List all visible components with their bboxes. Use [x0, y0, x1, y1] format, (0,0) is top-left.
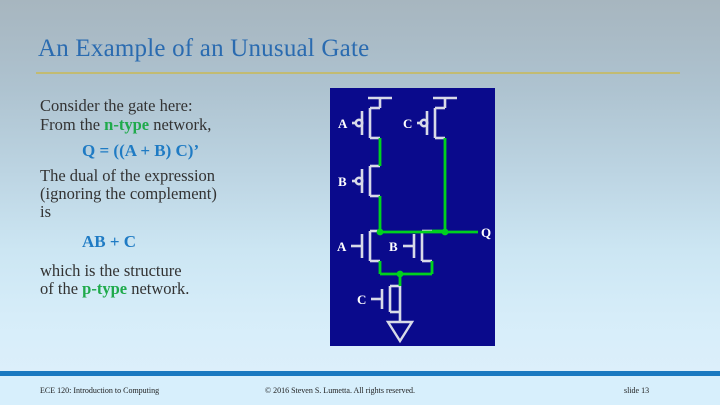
p-type-highlight: p-type — [82, 279, 127, 298]
footer-copyright: © 2016 Steven S. Lumetta. All rights res… — [265, 386, 415, 395]
ground-icon — [388, 322, 412, 341]
body-line-4a: which is the structure — [40, 262, 322, 280]
equation-dual: AB + C — [40, 232, 322, 251]
label-ptype-b: B — [338, 174, 347, 189]
body-line-4b: of the p-type network. — [40, 280, 322, 298]
footer-course-label: ECE 120: Introduction to Computing — [40, 386, 159, 395]
body-line-3a: The dual of the expression — [40, 167, 322, 185]
footer-slide-number: slide 13 — [624, 386, 649, 395]
device-symbols — [351, 98, 457, 341]
body-line-2: From the n-type network, — [40, 115, 322, 134]
page-title: An Example of an Unusual Gate — [38, 34, 369, 64]
body-line-3c: is — [40, 203, 322, 221]
n-type-highlight: n-type — [104, 115, 149, 134]
body-line-2-post: network, — [149, 115, 211, 134]
pmos-c-inversion-bubble — [421, 120, 427, 126]
body-line-1: Consider the gate here: — [40, 96, 322, 115]
label-output-q: Q — [481, 225, 491, 240]
spacer — [40, 221, 322, 232]
body-text-column: Consider the gate here: From the n-type … — [40, 96, 322, 298]
body-line-2-pre: From the — [40, 115, 104, 134]
label-ntype-c: C — [357, 292, 366, 307]
label-ntype-a: A — [337, 239, 347, 254]
junction-dot-right — [442, 229, 449, 236]
circuit-schematic-svg: A C B A B C Q — [330, 88, 495, 346]
junction-dot-bottom — [397, 271, 404, 278]
pmos-a-inversion-bubble — [356, 120, 362, 126]
interconnect-wires — [380, 138, 478, 286]
circuit-labels: A C B A B C Q — [337, 116, 491, 307]
label-ntype-b: B — [389, 239, 398, 254]
label-ptype-c: C — [403, 116, 412, 131]
slide-canvas: An Example of an Unusual Gate Consider t… — [0, 0, 720, 405]
body-line-4-post: network. — [127, 279, 189, 298]
spacer — [40, 134, 322, 141]
equation-q: Q = ((A + B) C)’ — [40, 141, 322, 160]
label-ptype-a: A — [338, 116, 348, 131]
pmos-b-inversion-bubble — [356, 178, 362, 184]
junction-dot-left — [377, 229, 384, 236]
title-underline-rule — [36, 72, 680, 74]
circuit-schematic-panel: A C B A B C Q — [330, 88, 495, 346]
body-line-4-pre: of the — [40, 279, 82, 298]
wire-junction-dots — [377, 229, 449, 278]
body-line-3b: (ignoring the complement) — [40, 185, 322, 203]
